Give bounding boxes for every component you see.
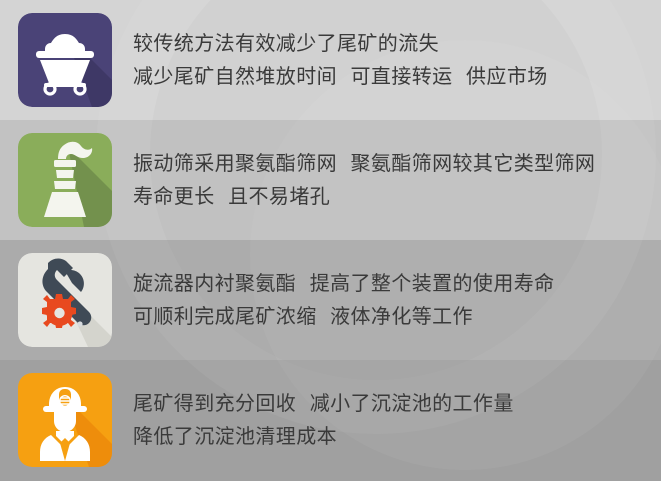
factory-smokestack-icon	[18, 133, 112, 227]
gear-shape	[42, 294, 76, 328]
miner-worker-icon	[18, 373, 112, 467]
benefit-text-3: 旋流器内衬聚氨酯 提高了整个装置的使用寿命 可顺利完成尾矿浓缩 液体净化等工作	[133, 267, 555, 333]
benefit-line: 振动筛采用聚氨酯筛网 聚氨酯筛网较其它类型筛网	[133, 147, 595, 180]
benefit-text-1: 较传统方法有效减少了尾矿的流失 减少尾矿自然堆放时间 可直接转运 供应市场	[133, 27, 548, 93]
benefit-line: 旋流器内衬聚氨酯 提高了整个装置的使用寿命	[133, 267, 555, 300]
benefit-row-2: 振动筛采用聚氨酯筛网 聚氨酯筛网较其它类型筛网 寿命更长 且不易堵孔	[0, 120, 661, 240]
benefit-line: 较传统方法有效减少了尾矿的流失	[133, 27, 548, 60]
benefits-infographic: 较传统方法有效减少了尾矿的流失 减少尾矿自然堆放时间 可直接转运 供应市场 振动…	[0, 0, 661, 481]
benefit-line: 寿命更长 且不易堵孔	[133, 180, 595, 213]
mine-cart-icon	[18, 13, 112, 107]
benefit-row-1: 较传统方法有效减少了尾矿的流失 减少尾矿自然堆放时间 可直接转运 供应市场	[0, 0, 661, 120]
benefit-text-2: 振动筛采用聚氨酯筛网 聚氨酯筛网较其它类型筛网 寿命更长 且不易堵孔	[133, 147, 595, 213]
wrench-gear-icon	[18, 253, 112, 347]
benefit-line: 减少尾矿自然堆放时间 可直接转运 供应市场	[133, 60, 548, 93]
benefit-line: 可顺利完成尾矿浓缩 液体净化等工作	[133, 300, 555, 333]
benefit-text-4: 尾矿得到充分回收 减小了沉淀池的工作量 降低了沉淀池清理成本	[133, 387, 514, 453]
benefit-line: 降低了沉淀池清理成本	[133, 420, 514, 453]
benefit-row-4: 尾矿得到充分回收 减小了沉淀池的工作量 降低了沉淀池清理成本	[0, 360, 661, 480]
benefit-row-3: 旋流器内衬聚氨酯 提高了整个装置的使用寿命 可顺利完成尾矿浓缩 液体净化等工作	[0, 240, 661, 360]
benefit-line: 尾矿得到充分回收 减小了沉淀池的工作量	[133, 387, 514, 420]
